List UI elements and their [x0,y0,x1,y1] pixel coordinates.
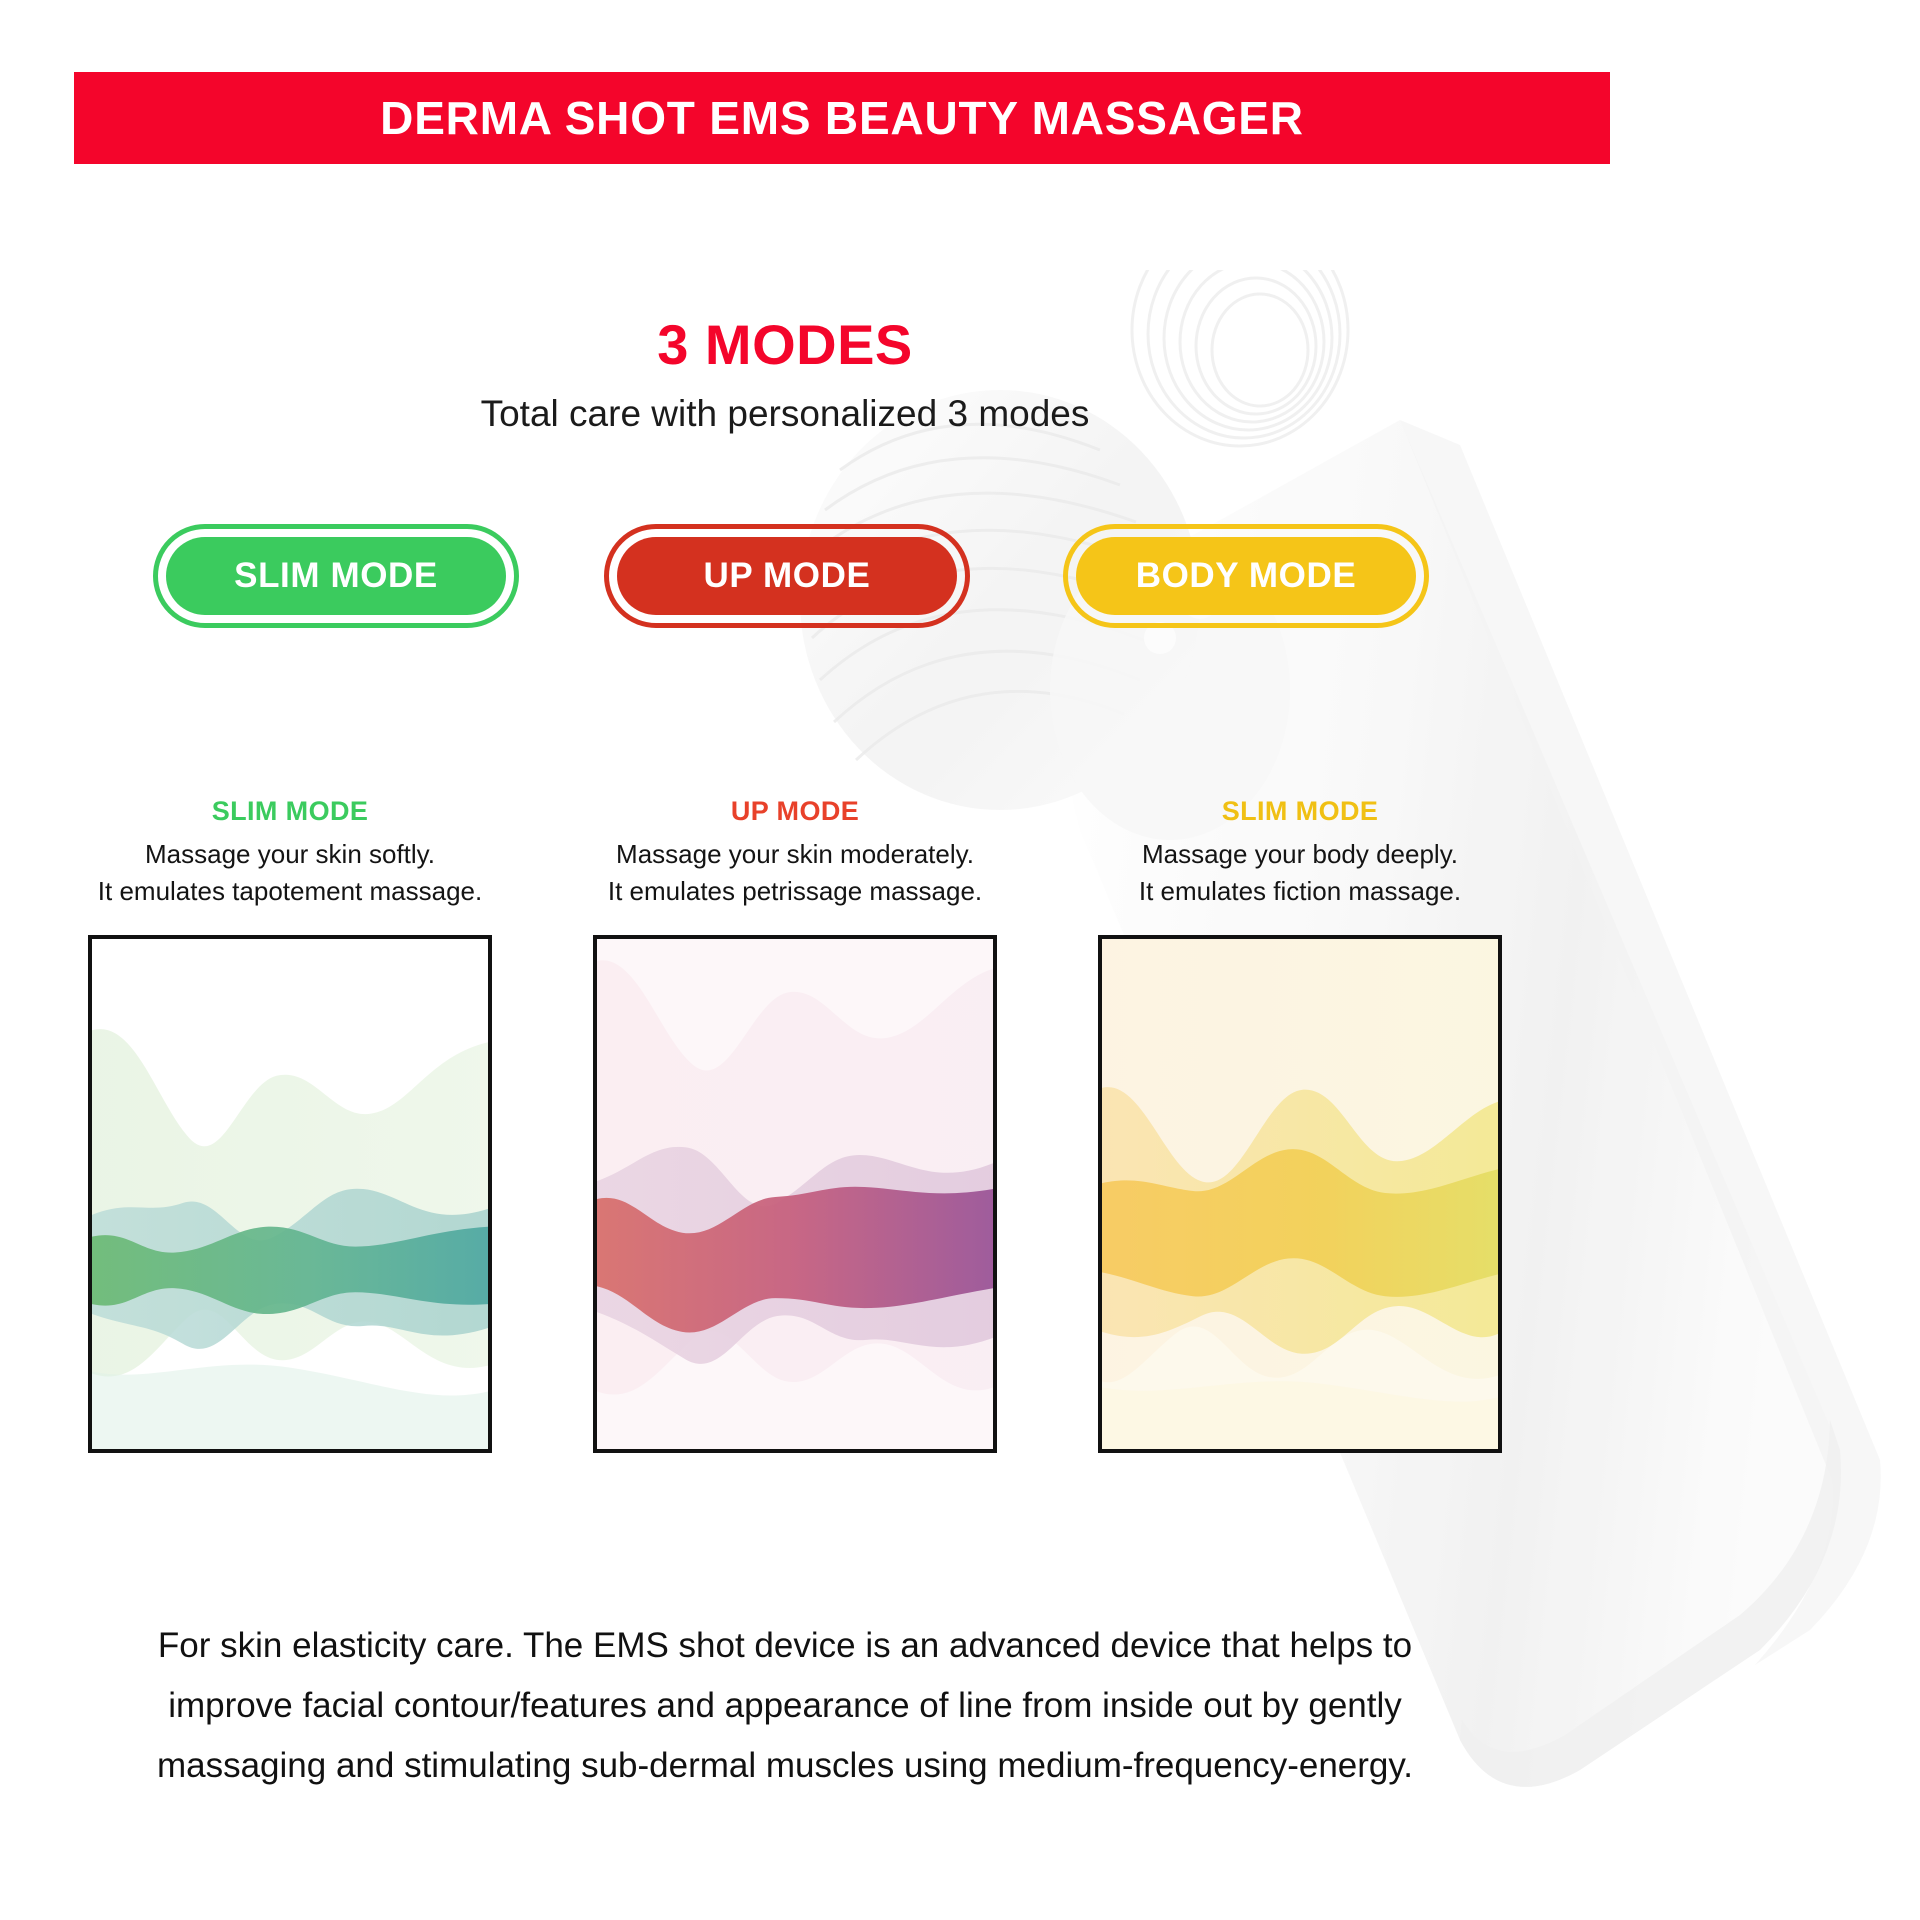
pill-body-mode-inner: BODY MODE [1076,537,1416,615]
modes-subheading: Total care with personalized 3 modes [0,393,1570,435]
mode-label-up: UP MODE [593,795,997,827]
mode-description-body-line2: It emulates fiction massage. [1098,873,1502,910]
slim-mode-waveform [92,939,488,1449]
mode-column-up: UP MODE Massage your skin moderately. It… [593,795,997,910]
mode-column-slim: SLIM MODE Massage your skin softly. It e… [88,795,492,910]
mode-description-slim: Massage your skin softly. It emulates ta… [88,836,492,910]
mode-description-up-line1: Massage your skin moderately. [593,836,997,873]
pill-body-mode[interactable]: BODY MODE [1063,524,1429,628]
pill-slim-mode-inner: SLIM MODE [166,537,506,615]
mode-description-slim-line1: Massage your skin softly. [88,836,492,873]
page-title: DERMA SHOT EMS BEAUTY MASSAGER [380,91,1304,145]
mode-description-slim-line2: It emulates tapotement massage. [88,873,492,910]
mode-description-body-line1: Massage your body deeply. [1098,836,1502,873]
up-mode-waveform-frame [593,935,997,1453]
modes-heading: 3 MODES [0,312,1570,377]
mode-column-body: SLIM MODE Massage your body deeply. It e… [1098,795,1502,910]
mode-label-slim: SLIM MODE [88,795,492,827]
slim-mode-waveform-frame [88,935,492,1453]
up-mode-waveform [597,939,993,1449]
infographic-page: DERMA SHOT EMS BEAUTY MASSAGER 3 MODES T… [0,0,1920,1920]
mode-label-body: SLIM MODE [1098,795,1502,827]
pill-up-mode-inner: UP MODE [617,537,957,615]
footer-line-3: massaging and stimulating sub-dermal mus… [110,1736,1460,1796]
footer-line-1: For skin elasticity care. The EMS shot d… [110,1616,1460,1676]
header-banner: DERMA SHOT EMS BEAUTY MASSAGER [74,72,1610,164]
pill-up-mode[interactable]: UP MODE [604,524,970,628]
mode-description-body: Massage your body deeply. It emulates fi… [1098,836,1502,910]
footer-line-2: improve facial contour/features and appe… [110,1676,1460,1736]
mode-description-up: Massage your skin moderately. It emulate… [593,836,997,910]
mode-pill-row: SLIM MODE UP MODE BODY MODE [0,524,1570,644]
footer-paragraph: For skin elasticity care. The EMS shot d… [110,1616,1460,1797]
body-mode-waveform [1102,939,1498,1449]
pill-body-mode-label: BODY MODE [1136,556,1357,596]
mode-description-up-line2: It emulates petrissage massage. [593,873,997,910]
pill-slim-mode-label: SLIM MODE [234,556,438,596]
body-mode-waveform-frame [1098,935,1502,1453]
pill-slim-mode[interactable]: SLIM MODE [153,524,519,628]
pill-up-mode-label: UP MODE [704,556,871,596]
